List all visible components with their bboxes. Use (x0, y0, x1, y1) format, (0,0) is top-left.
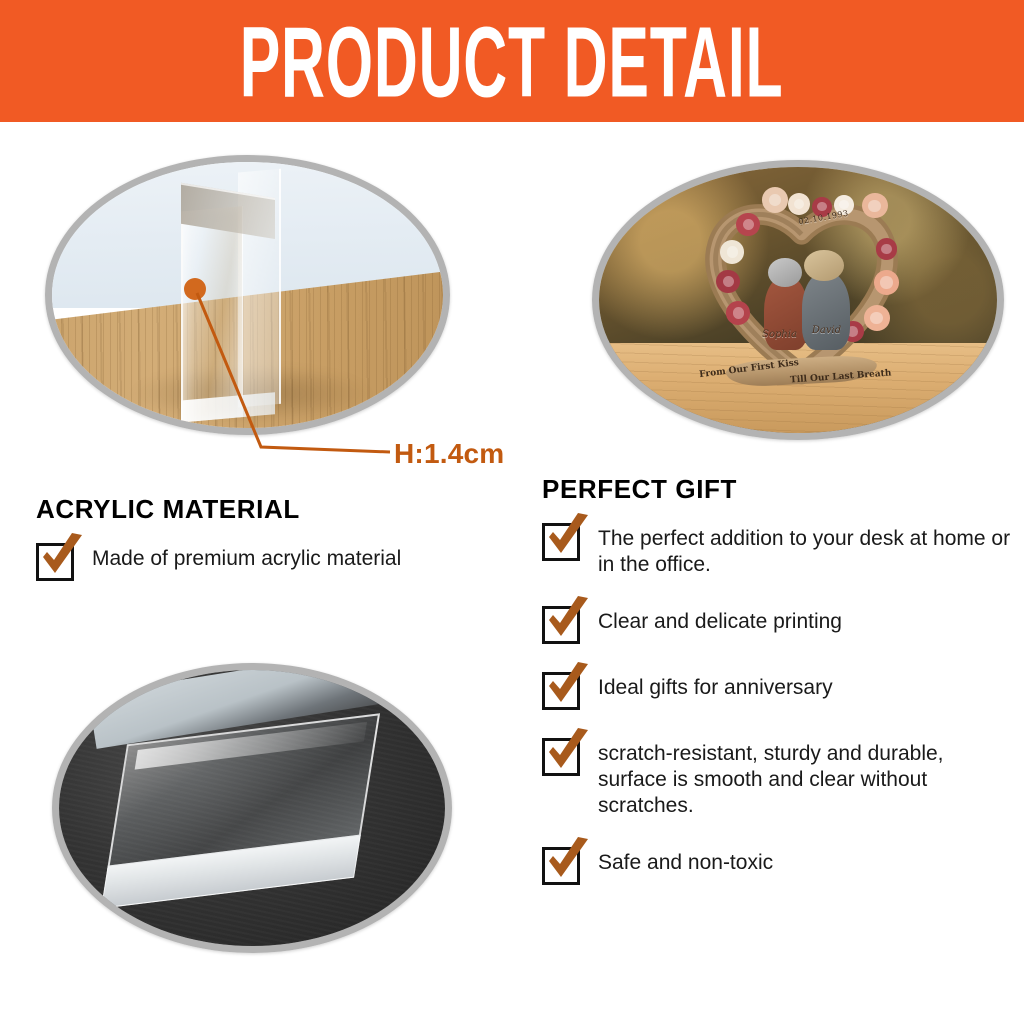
rose-flower (762, 187, 788, 213)
rose-flower (876, 238, 898, 260)
feature-text: Ideal gifts for anniversary (598, 670, 833, 701)
checkbox[interactable] (542, 523, 580, 561)
feature-item: scratch-resistant, sturdy and durable, s… (542, 736, 1012, 819)
feature-text: Made of premium acrylic material (92, 541, 401, 572)
acrylic-block-upright (181, 168, 283, 422)
photo-content: 02.10.1993 Sophia David From Our First K… (599, 167, 997, 433)
keepsake-product-photo: 02.10.1993 Sophia David From Our First K… (592, 160, 1004, 440)
check-icon (542, 513, 592, 561)
checkbox[interactable] (542, 847, 580, 885)
rose-flower (788, 193, 810, 215)
checkbox[interactable] (36, 543, 74, 581)
figurine-man (802, 272, 850, 351)
photo-content (59, 670, 445, 946)
section-title: ACRYLIC MATERIAL (36, 494, 536, 525)
check-icon (542, 728, 592, 776)
feature-item: Made of premium acrylic material (36, 541, 536, 581)
checkbox[interactable] (542, 738, 580, 776)
section-acrylic-material: ACRYLIC MATERIAL Made of premium acrylic… (36, 494, 536, 603)
feature-text: Safe and non-toxic (598, 845, 773, 876)
check-icon (542, 662, 592, 710)
page-title: PRODUCT DETAIL (240, 10, 784, 115)
checkbox[interactable] (542, 606, 580, 644)
figurine-woman-hair (768, 258, 802, 288)
acrylic-edge-photo (45, 155, 450, 435)
header-banner: PRODUCT DETAIL (0, 0, 1024, 122)
check-icon (36, 533, 86, 581)
engraved-name-left: Sophia (762, 329, 797, 340)
rose-flower (736, 213, 760, 237)
check-icon (542, 837, 592, 885)
dimension-label: H:1.4cm (394, 438, 504, 470)
feature-text: The perfect addition to your desk at hom… (598, 521, 1012, 578)
feature-item: Ideal gifts for anniversary (542, 670, 1012, 710)
checkbox[interactable] (542, 672, 580, 710)
acrylic-front-face (181, 206, 243, 422)
feature-item: Safe and non-toxic (542, 845, 1012, 885)
figurine-man-hat (804, 250, 844, 281)
photo-content (52, 162, 443, 428)
rose-flower (720, 240, 744, 264)
rose-flower (864, 305, 890, 331)
feature-text: Clear and delicate printing (598, 604, 842, 635)
section-perfect-gift: PERFECT GIFT The perfect addition to you… (542, 474, 1012, 911)
acrylic-slab-photo (52, 663, 452, 953)
product-detail-infographic: PRODUCT DETAIL (0, 0, 1024, 1024)
check-icon (542, 596, 592, 644)
rose-flower (726, 301, 750, 325)
rose-flower (862, 193, 888, 219)
feature-text: scratch-resistant, sturdy and durable, s… (598, 736, 1012, 819)
feature-item: Clear and delicate printing (542, 604, 1012, 644)
engraved-name-right: David (812, 325, 841, 336)
heart-wreath-ornament: 02.10.1993 Sophia David From Our First K… (702, 191, 901, 388)
feature-item: The perfect addition to your desk at hom… (542, 521, 1012, 578)
acrylic-block-flat (101, 713, 380, 909)
section-title: PERFECT GIFT (542, 474, 1012, 505)
